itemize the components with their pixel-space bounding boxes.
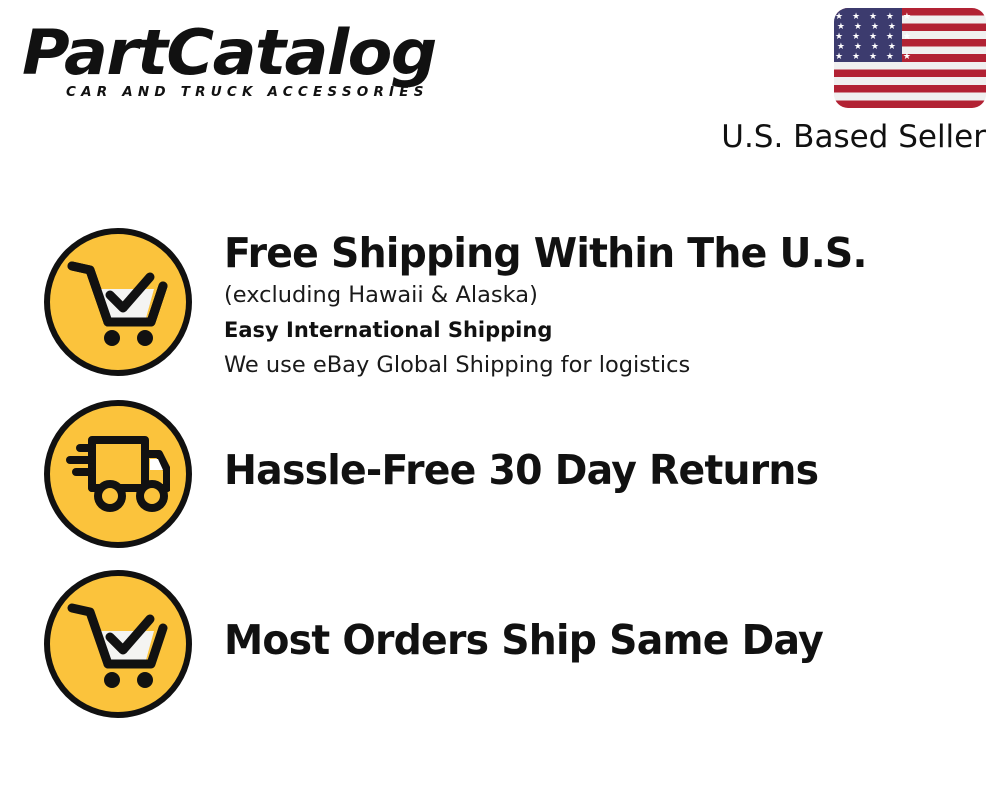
feature-subtitle-bold: Easy International Shipping	[224, 312, 1000, 348]
feature-title: Hassle-Free 30 Day Returns	[224, 445, 969, 495]
feature-row: Most Orders Ship Same Day	[0, 570, 1000, 740]
feature-row: Hassle-Free 30 Day Returns	[0, 400, 1000, 570]
us-based-seller-label: U.S. Based Seller	[706, 119, 986, 155]
brand-logo[interactable]: PartCatalog CAR AND TRUCK ACCESSORIES	[22, 18, 492, 114]
shopping-cart-check-icon	[44, 228, 192, 376]
flag-star-row: ★ ★ ★ ★ ★	[834, 12, 903, 21]
feature-text: Free Shipping Within The U.S. (excluding…	[224, 228, 1000, 382]
flag-star-row: ★ ★ ★ ★	[834, 22, 902, 31]
page-header: PartCatalog CAR AND TRUCK ACCESSORIES ★ …	[0, 0, 1000, 170]
feature-text: Hassle-Free 30 Day Returns	[224, 400, 1000, 495]
us-flag-icon: ★ ★ ★ ★ ★ ★ ★ ★ ★ ★ ★ ★ ★ ★ ★ ★ ★ ★ ★ ★ …	[834, 8, 986, 108]
feature-text: Most Orders Ship Same Day	[224, 570, 1000, 665]
feature-row: Free Shipping Within The U.S. (excluding…	[0, 228, 1000, 408]
us-based-seller-badge: ★ ★ ★ ★ ★ ★ ★ ★ ★ ★ ★ ★ ★ ★ ★ ★ ★ ★ ★ ★ …	[706, 8, 986, 155]
flag-star-row: ★ ★ ★ ★ ★	[834, 32, 903, 41]
brand-wordmark: PartCatalog	[22, 18, 516, 88]
flag-star-row: ★ ★ ★ ★ ★	[834, 52, 903, 61]
feature-subtitle: (excluding Hawaii & Alaska)	[224, 278, 1000, 312]
delivery-truck-icon	[44, 400, 192, 548]
feature-subtitle-note: We use eBay Global Shipping for logistic…	[224, 348, 1000, 382]
feature-title: Free Shipping Within The U.S.	[224, 228, 969, 278]
feature-title: Most Orders Ship Same Day	[224, 615, 969, 665]
shopping-cart-check-icon	[44, 570, 192, 718]
flag-canton: ★ ★ ★ ★ ★ ★ ★ ★ ★ ★ ★ ★ ★ ★ ★ ★ ★ ★ ★ ★ …	[834, 8, 902, 62]
flag-star-row: ★ ★ ★ ★	[834, 42, 902, 51]
